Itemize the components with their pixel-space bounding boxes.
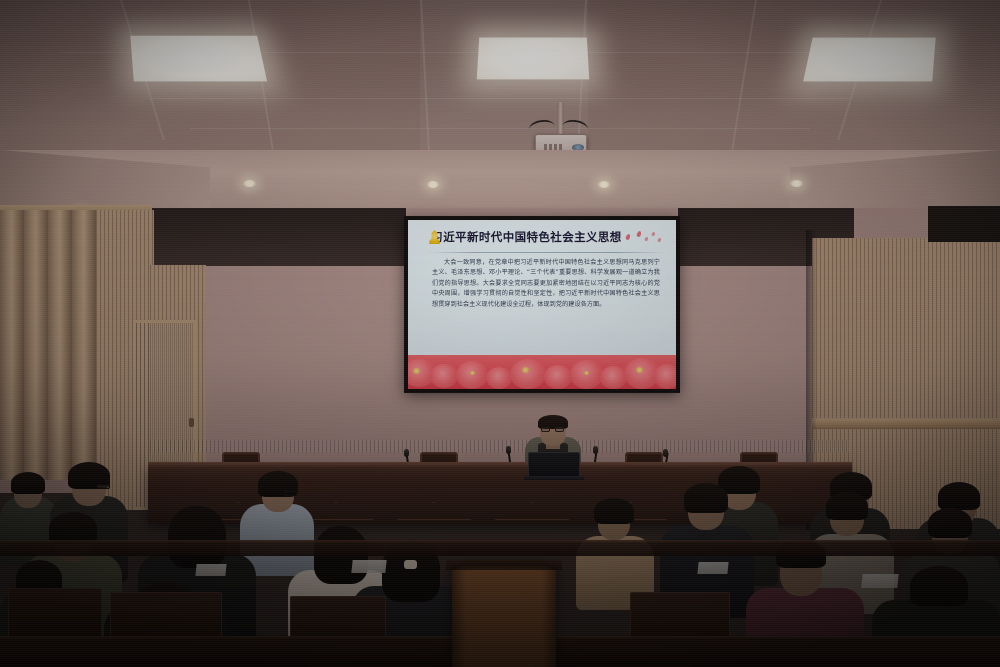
hair-clip-icon [404, 560, 417, 569]
center-aisle-lectern[interactable] [452, 566, 556, 667]
glasses-icon [96, 484, 110, 489]
wall-chair-rail-right [812, 418, 1000, 429]
bench-row-middle[interactable] [0, 540, 1000, 556]
downlight-1 [243, 180, 256, 187]
slide-decor-petals-icon [622, 228, 668, 246]
panel-light-center [477, 38, 590, 80]
handout-paper-3[interactable] [697, 562, 728, 574]
slide-divider [428, 252, 664, 253]
lectern-shadow-left [452, 566, 466, 667]
slide-flower-band [408, 355, 676, 389]
projection-screen: 习近平新时代中国特色社会主义思想 大会一致同意，在党章中把习近平新时代中国特色社… [404, 216, 680, 393]
projector-lens-icon [572, 144, 584, 151]
downlight-4 [790, 180, 803, 187]
handout-paper-4[interactable] [861, 574, 898, 588]
lectern-shadow-right [542, 566, 556, 667]
panel-light-left [130, 36, 267, 82]
panel-light-right [803, 38, 936, 82]
glasses-icon [284, 491, 297, 496]
glasses-icon [958, 530, 972, 535]
conference-hall-photo: 习近平新时代中国特色社会主义思想 大会一致同意，在党章中把习近平新时代中国特色社… [0, 0, 1000, 667]
downlight-2 [427, 181, 439, 188]
slide-canvas: 习近平新时代中国特色社会主义思想 大会一致同意，在党章中把习近平新时代中国特色社… [408, 220, 676, 389]
slide-title: 习近平新时代中国特色社会主义思想 [431, 229, 622, 245]
slide-body-text: 大会一致同意，在党章中把习近平新时代中国特色社会主义思想同马克思列宁主义、毛泽东… [432, 258, 660, 310]
glasses-icon [964, 504, 978, 509]
handout-paper-1[interactable] [195, 564, 226, 576]
chair-back-slat-1[interactable] [8, 588, 102, 640]
handout-paper-2[interactable] [351, 560, 386, 573]
downlight-3 [598, 181, 610, 188]
door-knob-icon[interactable] [189, 418, 194, 427]
glasses-icon [541, 427, 565, 432]
slide-title-row: 习近平新时代中国特色社会主义思想 [408, 224, 676, 250]
wall-upper-dark-right [928, 206, 1000, 242]
slide-paragraph: 大会一致同意，在党章中把习近平新时代中国特色社会主义思想同马克思列宁主义、毛泽东… [432, 258, 660, 310]
wall-recess-left [150, 208, 406, 266]
